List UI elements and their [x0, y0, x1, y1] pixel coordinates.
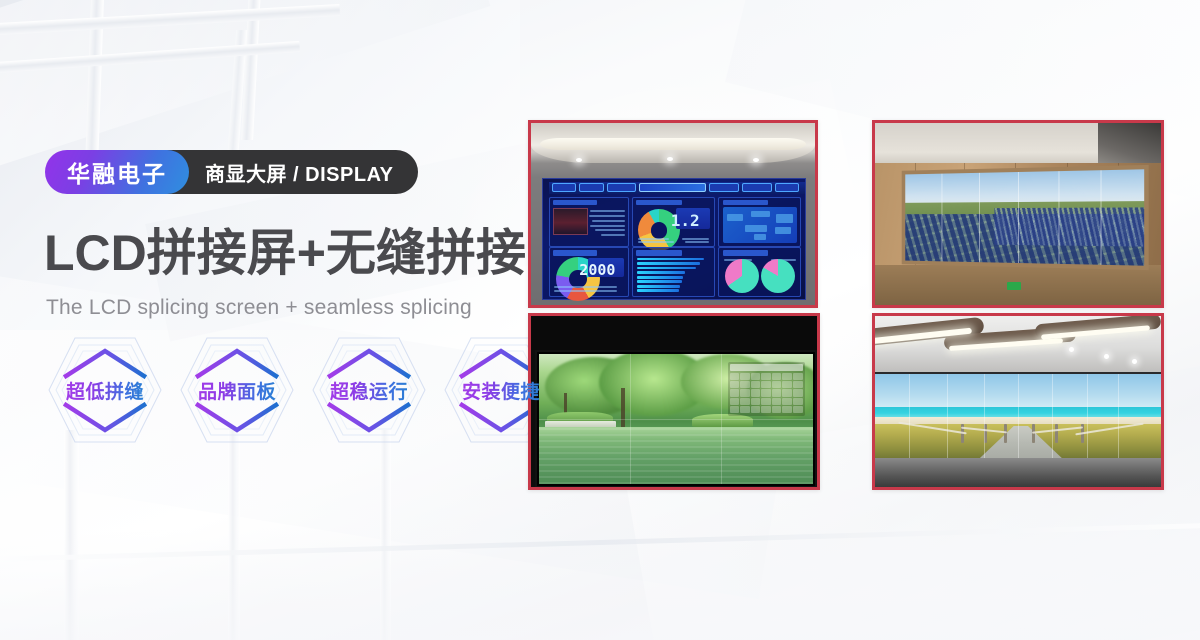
photo-image: [875, 316, 1161, 487]
panel-title-bar: [636, 250, 681, 255]
calendar-title: [730, 364, 803, 371]
panel-thumbnail: [553, 208, 588, 235]
lake-water: [539, 427, 812, 484]
panel-title-bar: [636, 200, 681, 205]
bar-chart: [637, 258, 710, 293]
dashboard-panel-pies: [718, 247, 801, 297]
panel-title-bar: [553, 250, 597, 255]
feature-badge-0[interactable]: 超低拼缝: [46, 334, 164, 446]
dashboard-tab: [552, 183, 577, 193]
feature-badge-1[interactable]: 品牌面板: [178, 334, 296, 446]
video-wall-screen: 1.2: [542, 178, 805, 300]
dashboard-nav-bar: [549, 182, 806, 194]
feature-badge-label: 安装便捷: [462, 377, 540, 404]
upper-dark-wall: [531, 316, 817, 350]
brand-name-label: 华融电子: [67, 155, 167, 189]
feature-badge-label: 超低拼缝: [66, 377, 144, 404]
feature-badge-list: 超低拼缝 品牌面板: [46, 334, 560, 446]
video-wall-screen: [905, 169, 1144, 265]
solar-panel-array-far: [994, 208, 1144, 247]
dashboard-tab: [709, 183, 739, 193]
video-wall-screen: [535, 350, 816, 487]
calendar-overlay: [728, 362, 805, 416]
panel-title-bar: [553, 200, 597, 205]
photo-park-scene-video-wall[interactable]: [528, 313, 820, 490]
pie-chart-group: [724, 263, 795, 288]
ceiling-cove: [540, 138, 807, 151]
feature-badge-2[interactable]: 超稳运行: [310, 334, 428, 446]
exit-sign: [1007, 282, 1021, 290]
park-scene-image: [539, 354, 812, 483]
dashboard-tab: [579, 183, 604, 193]
dashboard-panel-bars: [632, 247, 715, 297]
dashboard-tab: [742, 183, 772, 193]
dashboard-panel-kpi: 2000: [549, 247, 629, 297]
panel-title-bar: [723, 250, 768, 255]
photo-image: [531, 316, 817, 487]
photo-dashboard-video-wall[interactable]: 1.2: [528, 120, 818, 308]
photo-image: 1.2: [531, 123, 815, 305]
dashboard-tab: [607, 183, 637, 193]
calendar-grid: [730, 373, 803, 413]
video-wall-screen: [875, 372, 1161, 460]
floor: [875, 458, 1161, 487]
brand-category-label: 商显大屏 / DISPLAY: [205, 158, 394, 187]
banner-stage: 华融电子 商显大屏 / DISPLAY LCD拼接屏+无缝拼接 The LCD …: [0, 0, 1200, 640]
dashboard-panel-intro: [549, 197, 629, 247]
dashboard-tab-active: [639, 183, 706, 193]
page-title: LCD拼接屏+无缝拼接: [44, 228, 526, 278]
photo-beach-boardwalk-video-wall[interactable]: [872, 313, 1164, 490]
product-photo-grid: 1.2: [528, 120, 1164, 490]
ceiling-spotlight: [667, 157, 673, 161]
feature-badge-label: 品牌面板: [198, 377, 276, 404]
dashboard-tab: [775, 183, 800, 193]
brand-name-pill[interactable]: 华融电子: [45, 150, 189, 194]
page-subtitle: The LCD splicing screen + seamless splic…: [46, 296, 472, 320]
panel-title-bar: [723, 200, 768, 205]
dashboard-panel-flow: [718, 197, 801, 247]
feature-badge-label: 超稳运行: [330, 377, 408, 404]
brand-badge: 华融电子 商显大屏 / DISPLAY: [45, 150, 418, 194]
ceiling-spotlight: [576, 158, 582, 162]
pie-chart: [761, 259, 795, 293]
pie-chart: [725, 259, 759, 293]
photo-image: [875, 123, 1161, 305]
photo-solar-farm-video-wall[interactable]: [872, 120, 1164, 308]
flow-diagram: [723, 207, 798, 243]
dashboard-panel-donut: 1.2: [632, 197, 715, 247]
